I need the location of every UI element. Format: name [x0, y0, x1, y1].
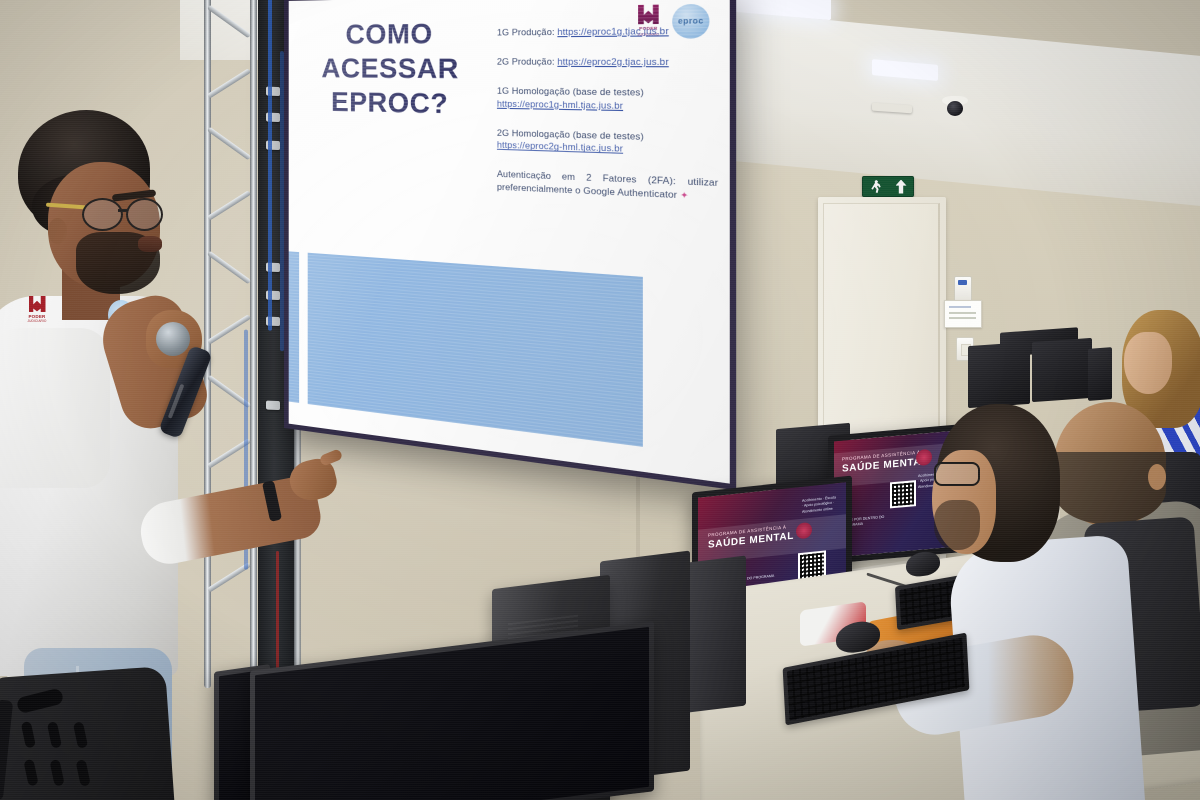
- exit-sign: [862, 176, 914, 197]
- running-man-icon: [870, 180, 883, 193]
- slide-accent-gap: [299, 252, 308, 404]
- slide-2fa-note: Autenticação em 2 Fatores (2FA): utiliza…: [497, 169, 718, 205]
- young-man-beard: [934, 500, 980, 550]
- attendee-young-man: [930, 404, 1110, 800]
- chair-foreground[interactable]: [0, 666, 175, 800]
- presenter-mouth: [138, 236, 162, 252]
- bullet-label: 1G Homologação (base de testes): [497, 86, 644, 98]
- tshirt-sleeve-logo: PODER JUDICIARIO: [22, 296, 52, 330]
- back-monitor-2: [1032, 338, 1092, 402]
- presentation-room-photo: COMO ACESSAR EPROC? PODER JUDICIARIO epr…: [0, 0, 1200, 800]
- bullet-label: 1G Produção:: [497, 27, 555, 37]
- information-card: [944, 300, 982, 328]
- slide-bullet: 2G Produção: https://eproc2g.tjac.jus.br: [497, 56, 718, 70]
- presenter-ear: [48, 218, 67, 244]
- bullet-label: 2G Produção:: [497, 57, 555, 67]
- dome-security-camera-icon: [942, 96, 968, 118]
- qr-code-icon[interactable]: [890, 480, 916, 508]
- slide-bullet-list: 1G Produção: https://eproc1g.tjac.jus.br…: [497, 25, 718, 223]
- slide-bullet: 1G Produção: https://eproc1g.tjac.jus.br: [497, 25, 718, 40]
- slide-title: COMO ACESSAR EPROC?: [310, 16, 472, 122]
- bald-man-ear: [1148, 464, 1166, 490]
- bullet-url[interactable]: https://eproc2g-hml.tjac.jus.br: [497, 141, 623, 155]
- presenter-glasses: [82, 198, 168, 228]
- woman-face: [1124, 332, 1172, 394]
- screen-bezel: COMO ACESSAR EPROC? PODER JUDICIARIO epr…: [284, 0, 736, 490]
- slide-bullet: 1G Homologação (base de testes) https://…: [497, 85, 718, 115]
- bullet-url[interactable]: https://eproc1g-hml.tjac.jus.br: [497, 99, 623, 111]
- young-man-glasses: [934, 462, 980, 486]
- slide-accent-block: [289, 251, 643, 447]
- bullet-url[interactable]: https://eproc2g.tjac.jus.br: [557, 57, 668, 67]
- led-video-wall: COMO ACESSAR EPROC? PODER JUDICIARIO epr…: [284, 0, 736, 490]
- bullet-label: 2G Homologação (base de testes): [497, 128, 644, 142]
- presentation-slide: COMO ACESSAR EPROC? PODER JUDICIARIO epr…: [289, 0, 730, 484]
- bullet-url[interactable]: https://eproc1g.tjac.jus.br: [557, 26, 668, 37]
- poster-body: Acolhimento · Escuta · Apoio psicológico…: [802, 495, 836, 515]
- arrow-up-icon: [896, 180, 907, 194]
- slide-bullet: 2G Homologação (base de testes) https://…: [497, 127, 718, 160]
- presenter-sleeve: [0, 328, 110, 488]
- star-icon: ✦: [680, 190, 688, 201]
- back-monitor-1: [968, 342, 1030, 408]
- microphone-head-icon: [156, 322, 190, 356]
